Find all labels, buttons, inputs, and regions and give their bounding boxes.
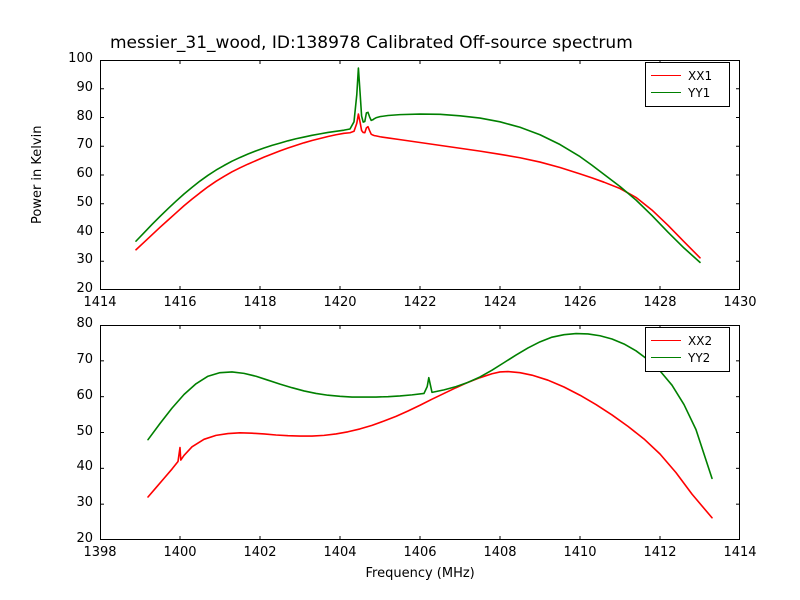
figure-canvas: messier_31_wood, ID:138978 Calibrated Of… [0, 0, 800, 600]
y-tick-label: 20 [48, 281, 93, 296]
x-tick-label: 1414 [710, 545, 770, 560]
legend-swatch-yy1 [651, 92, 681, 93]
legend-item: YY2 [651, 349, 724, 366]
x-tick-label: 1428 [630, 295, 690, 310]
x-tick-label: 1424 [470, 295, 530, 310]
y-tick-label: 60 [48, 388, 93, 403]
x-tick-label: 1412 [630, 545, 690, 560]
x-tick-label: 1398 [70, 545, 130, 560]
y-tick-label: 60 [48, 166, 93, 181]
y-tick-label: 90 [48, 80, 93, 95]
x-tick-label: 1400 [150, 545, 210, 560]
y-axis-label-top: Power in Kelvin [30, 126, 45, 224]
x-tick-label: 1422 [390, 295, 450, 310]
x-tick-label: 1408 [470, 545, 530, 560]
legend-item: XX1 [651, 67, 724, 84]
y-tick-label: 100 [48, 51, 93, 66]
y-tick-label: 70 [48, 352, 93, 367]
x-tick-label: 1404 [310, 545, 370, 560]
y-tick-label: 80 [48, 316, 93, 331]
legend-swatch-xx1 [651, 75, 681, 76]
y-tick-label: 30 [48, 252, 93, 267]
legend-bottom: XX2 YY2 [645, 327, 730, 372]
y-tick-label: 80 [48, 109, 93, 124]
legend-swatch-xx2 [651, 340, 681, 341]
legend-top: XX1 YY1 [645, 62, 730, 107]
chart-title: messier_31_wood, ID:138978 Calibrated Of… [110, 33, 633, 53]
y-tick-label: 50 [48, 424, 93, 439]
y-tick-label: 70 [48, 137, 93, 152]
x-tick-label: 1426 [550, 295, 610, 310]
x-axis-label-bottom: Frequency (MHz) [366, 566, 475, 581]
legend-label-yy2: YY2 [688, 351, 710, 365]
top-plot-area [100, 60, 740, 290]
y-tick-label: 50 [48, 195, 93, 210]
bottom-plot-area [100, 325, 740, 540]
x-tick-label: 1418 [230, 295, 290, 310]
legend-label-xx1: XX1 [688, 69, 712, 83]
x-tick-label: 1406 [390, 545, 450, 560]
x-tick-label: 1414 [70, 295, 130, 310]
y-tick-label: 40 [48, 224, 93, 239]
legend-item: YY1 [651, 84, 724, 101]
y-tick-label: 30 [48, 495, 93, 510]
legend-label-xx2: XX2 [688, 334, 712, 348]
y-tick-label: 20 [48, 531, 93, 546]
legend-swatch-yy2 [651, 357, 681, 358]
legend-item: XX2 [651, 332, 724, 349]
x-tick-label: 1410 [550, 545, 610, 560]
legend-label-yy1: YY1 [688, 86, 710, 100]
x-tick-label: 1420 [310, 295, 370, 310]
y-tick-label: 40 [48, 459, 93, 474]
x-tick-label: 1416 [150, 295, 210, 310]
x-tick-label: 1430 [710, 295, 770, 310]
x-tick-label: 1402 [230, 545, 290, 560]
